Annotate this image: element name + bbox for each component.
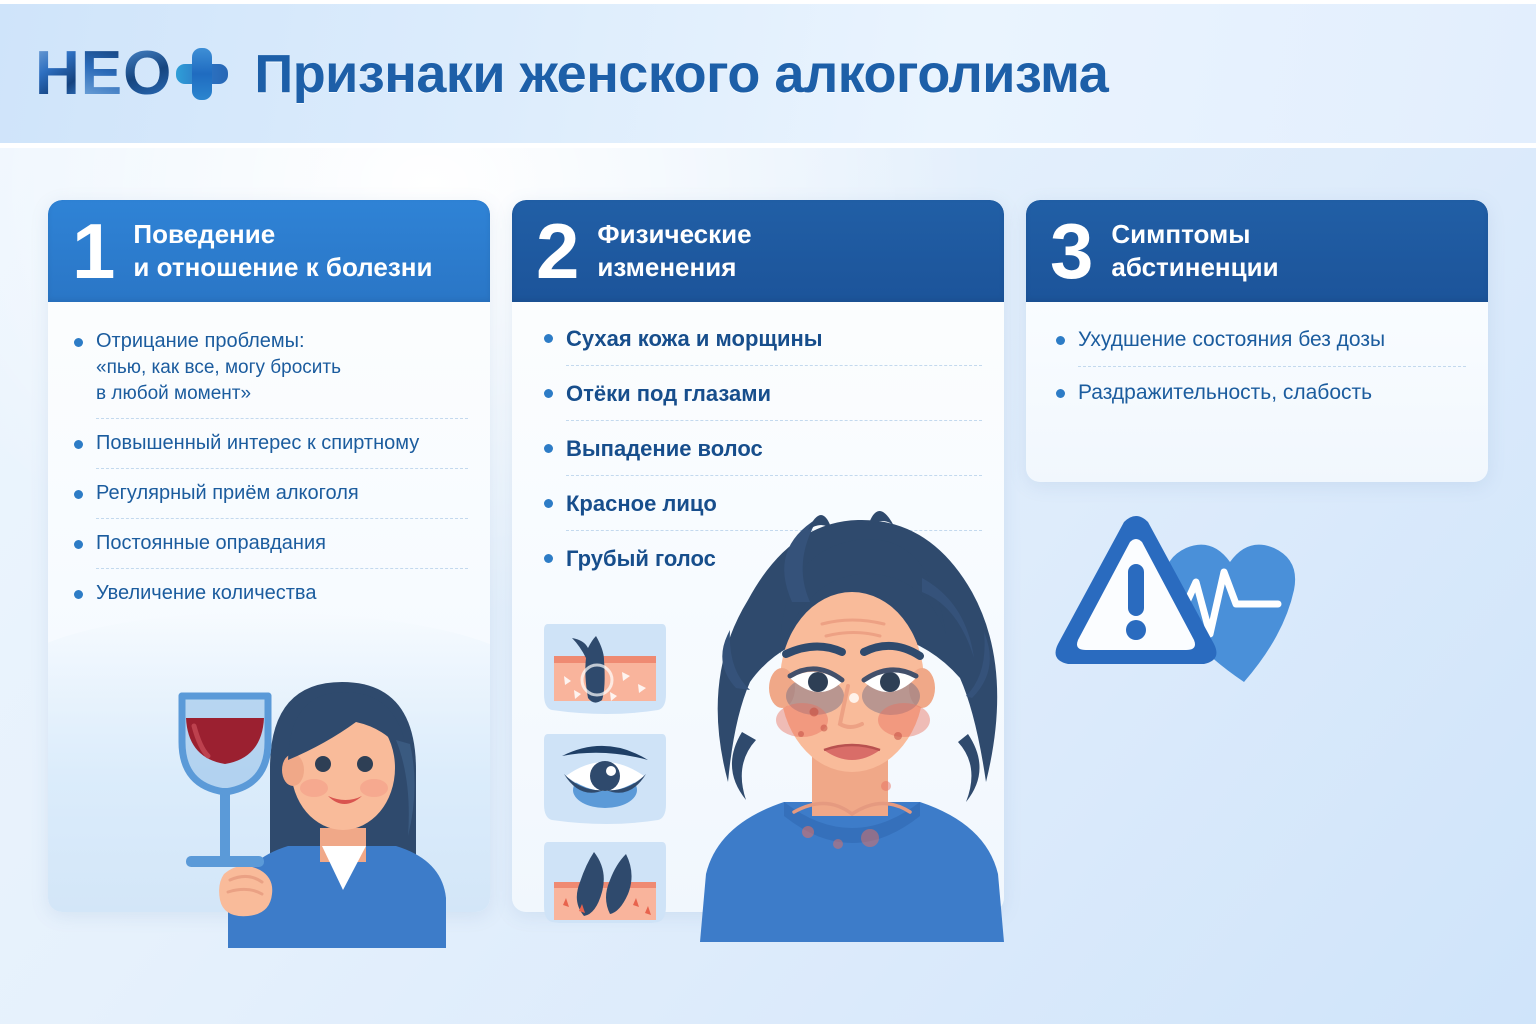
list-item-subtext-2: в любой момент» — [96, 381, 468, 407]
list-item-text: Грубый голос — [566, 546, 716, 571]
infographic-page: Н Е О Признаки женского алкоголизма 1 По… — [0, 0, 1536, 1024]
symptom-list: Ухудшение состояния без дозы Раздражител… — [1026, 302, 1488, 407]
warning-and-heartbeat-illustration — [1046, 506, 1346, 696]
list-divider — [1078, 366, 1466, 367]
page-title: Признаки женского алкоголизма — [254, 43, 1108, 105]
card-header: 1 Поведение и отношение к болезни — [48, 200, 490, 302]
list-item: Раздражительность, слабость — [1052, 379, 1466, 408]
card-title: Физические изменения — [597, 218, 751, 284]
symptom-list: Отрицание проблемы: «пью, как все, могу … — [48, 302, 490, 608]
card-number: 1 — [72, 218, 115, 284]
logo-letter-o: О — [123, 43, 170, 105]
list-item-text: Сухая кожа и морщины — [566, 326, 823, 351]
card-physical-changes: 2 Физические изменения Сухая кожа и морщ… — [512, 200, 1004, 912]
heartbeat-icon — [1164, 545, 1295, 682]
card-header: 2 Физические изменения — [512, 200, 1004, 302]
warning-triangle-icon — [1056, 516, 1217, 664]
card-title-line-2: изменения — [597, 251, 751, 284]
list-item: Увеличение количества — [70, 580, 468, 607]
list-divider — [96, 418, 468, 419]
list-item: Отёки под глазами — [540, 379, 982, 421]
list-item: Постоянные оправдания — [70, 530, 468, 569]
logo-letter-n: Н — [35, 43, 79, 105]
header-band: Н Е О Признаки женского алкоголизма — [0, 0, 1536, 148]
plus-icon — [176, 48, 228, 100]
card-number: 2 — [536, 218, 579, 284]
list-item-text: Красное лицо — [566, 491, 717, 516]
card-background-wave — [48, 612, 490, 912]
list-item: Ухудшение состояния без дозы — [1052, 326, 1466, 367]
symptom-list: Сухая кожа и морщины Отёки под глазами В… — [512, 302, 1004, 574]
list-divider — [566, 420, 982, 421]
card-behavior: 1 Поведение и отношение к болезни Отрица… — [48, 200, 490, 912]
list-item-text: Повышенный интерес к спиртному — [96, 432, 419, 454]
list-item-text: Выпадение волос — [566, 436, 763, 461]
list-divider — [566, 365, 982, 366]
list-item-text: Увеличение количества — [96, 582, 316, 604]
list-item: Отрицание проблемы: «пью, как все, могу … — [70, 328, 468, 419]
list-item: Выпадение волос — [540, 434, 982, 476]
list-item: Повышенный интерес к спиртному — [70, 430, 468, 469]
card-title-line-2: и отношение к болезни — [133, 251, 432, 284]
card-header: 3 Симптомы абстиненции — [1026, 200, 1488, 302]
list-divider — [96, 568, 468, 569]
card-title: Симптомы абстиненции — [1111, 218, 1278, 284]
list-item-text: Отрицание проблемы: — [96, 330, 305, 352]
card-title-line-1: Физические — [597, 218, 751, 251]
list-item-subtext-1: «пью, как все, могу бросить — [96, 355, 468, 381]
card-title-line-1: Симптомы — [1111, 218, 1278, 251]
list-item-text: Постоянные оправдания — [96, 532, 326, 554]
list-item-text: Раздражительность, слабость — [1078, 381, 1372, 404]
card-title: Поведение и отношение к болезни — [133, 218, 432, 284]
list-item: Красное лицо — [540, 489, 982, 531]
card-withdrawal-symptoms: 3 Симптомы абстиненции Ухудшение состоян… — [1026, 200, 1488, 482]
brand-logo: Н Е О — [35, 42, 228, 106]
list-item-text: Ухудшение состояния без дозы — [1078, 328, 1385, 351]
card-number: 3 — [1050, 218, 1093, 284]
list-divider — [96, 518, 468, 519]
list-item: Грубый голос — [540, 544, 982, 574]
list-item-text: Регулярный приём алкоголя — [96, 482, 359, 504]
list-divider — [566, 530, 982, 531]
list-divider — [566, 475, 982, 476]
card-title-line-1: Поведение — [133, 218, 432, 251]
card-title-line-2: абстиненции — [1111, 251, 1278, 284]
list-item-text: Отёки под глазами — [566, 381, 771, 406]
list-item: Сухая кожа и морщины — [540, 324, 982, 366]
list-divider — [96, 468, 468, 469]
logo-letter-e: Е — [81, 43, 121, 105]
list-item: Регулярный приём алкоголя — [70, 480, 468, 519]
